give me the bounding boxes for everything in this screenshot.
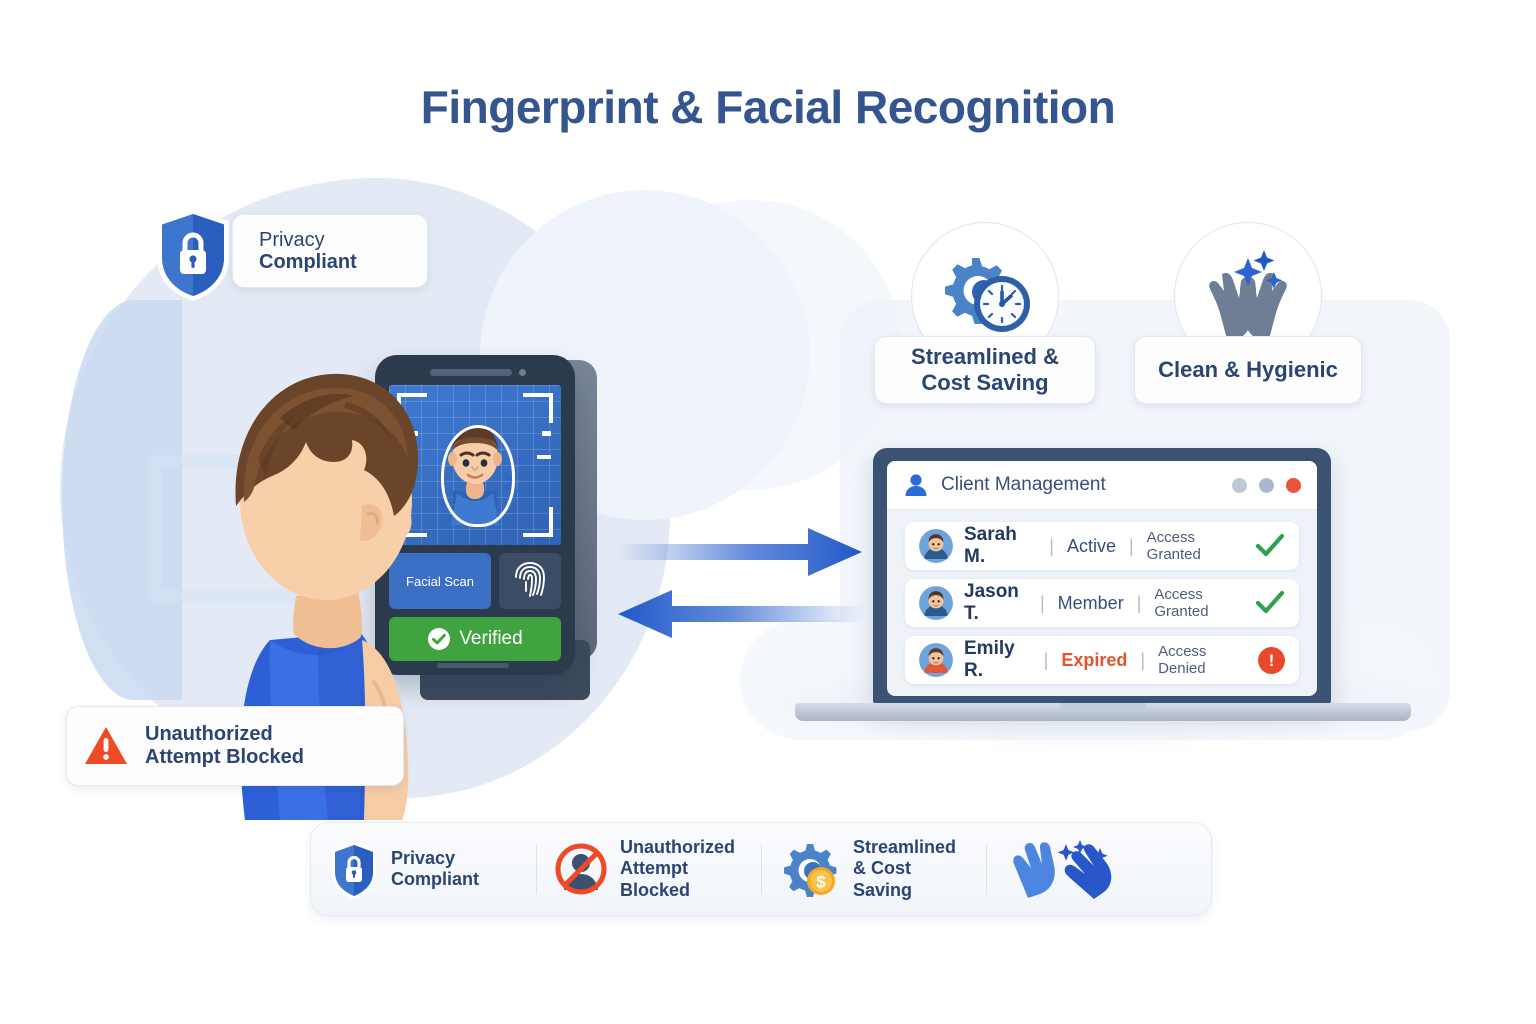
legend-unauth-line1: Unauthorized bbox=[620, 837, 735, 858]
avatar bbox=[919, 586, 953, 620]
row-separator-2: | bbox=[1137, 593, 1142, 614]
laptop-screen: Client Management bbox=[887, 461, 1317, 696]
client-management-window-header: Client Management bbox=[887, 461, 1317, 510]
feature-label-hygienic: Clean & Hygienic bbox=[1134, 336, 1362, 404]
user-icon bbox=[903, 472, 929, 498]
table-row[interactable]: Jason T. | Member | Access Granted bbox=[905, 579, 1299, 627]
shield-lock-icon bbox=[152, 206, 234, 302]
window-dot-close[interactable] bbox=[1286, 478, 1301, 493]
arrow-right-icon bbox=[616, 528, 862, 576]
legend-unauth-line3: Blocked bbox=[620, 880, 735, 901]
warning-triangle-icon bbox=[84, 725, 128, 767]
hands-sparkle-icon bbox=[1192, 248, 1304, 344]
gear-clock-icon bbox=[932, 248, 1038, 344]
legend-item-hygienic bbox=[986, 838, 1211, 900]
legend-bar: Privacy Compliant Unauthorized Attempt B… bbox=[310, 822, 1212, 916]
client-name: Sarah M. bbox=[964, 524, 1036, 568]
client-access: Access Granted bbox=[1147, 529, 1244, 563]
row-separator-2: | bbox=[1129, 536, 1134, 557]
window-controls[interactable] bbox=[1232, 478, 1301, 493]
client-list: Sarah M. | Active | Access Granted bbox=[887, 510, 1317, 696]
legend-item-unauthorized: Unauthorized Attempt Blocked bbox=[536, 838, 761, 900]
window-title: Client Management bbox=[941, 474, 1220, 496]
client-status: Member bbox=[1058, 593, 1124, 614]
no-person-icon bbox=[554, 842, 608, 896]
privacy-badge-line1: Privacy bbox=[259, 229, 357, 251]
row-separator-1: | bbox=[1044, 650, 1049, 671]
legend-item-streamlined: $ Streamlined & Cost Saving bbox=[761, 838, 986, 900]
window-dot-maximize[interactable] bbox=[1259, 478, 1274, 493]
unauth-badge-line2: Attempt Blocked bbox=[145, 746, 304, 769]
row-separator-2: | bbox=[1140, 650, 1145, 671]
feature-hygienic-line1: Clean & Hygienic bbox=[1158, 357, 1338, 383]
privacy-badge-line2: Compliant bbox=[259, 251, 357, 273]
scan-corner-top-right bbox=[523, 393, 553, 423]
gear-dollar-icon: $ bbox=[779, 840, 841, 898]
fingerprint-icon bbox=[513, 561, 547, 601]
row-result bbox=[1255, 590, 1285, 616]
window-dot-minimize[interactable] bbox=[1232, 478, 1247, 493]
client-status: Expired bbox=[1061, 650, 1127, 671]
table-row[interactable]: Sarah M. | Active | Access Granted bbox=[905, 522, 1299, 570]
page-title: Fingerprint & Facial Recognition bbox=[0, 80, 1536, 134]
legend-privacy-line1: Privacy bbox=[391, 848, 479, 869]
laptop-base bbox=[795, 703, 1411, 721]
client-name: Jason T. bbox=[964, 581, 1027, 625]
laptop-device: Client Management bbox=[873, 448, 1331, 706]
unauth-badge-line1: Unauthorized bbox=[145, 723, 304, 746]
legend-item-privacy: Privacy Compliant bbox=[311, 838, 536, 900]
row-result: ! bbox=[1258, 647, 1285, 674]
exchange-arrows bbox=[610, 520, 870, 660]
row-separator-1: | bbox=[1049, 536, 1054, 557]
check-icon bbox=[1255, 533, 1285, 559]
legend-streamlined-line2: & Cost Saving bbox=[853, 858, 968, 900]
client-access: Access Granted bbox=[1154, 586, 1244, 620]
feature-streamlined-line1: Streamlined & bbox=[911, 344, 1059, 370]
hands-sparkle-icon bbox=[1004, 838, 1112, 900]
alert-icon: ! bbox=[1258, 647, 1285, 674]
row-separator-1: | bbox=[1040, 593, 1045, 614]
avatar bbox=[919, 529, 953, 563]
feature-streamlined-line2: Cost Saving bbox=[911, 370, 1059, 396]
check-icon bbox=[1255, 590, 1285, 616]
scan-corner-bottom-right bbox=[523, 507, 553, 537]
legend-unauth-line2: Attempt bbox=[620, 858, 735, 879]
svg-text:$: $ bbox=[816, 873, 826, 892]
table-row[interactable]: Emily R. | Expired | Access Denied ! bbox=[905, 636, 1299, 684]
infographic-canvas: Fingerprint & Facial Recognition bbox=[0, 0, 1536, 1024]
legend-streamlined-line1: Streamlined bbox=[853, 837, 968, 858]
privacy-compliant-badge: Privacy Compliant bbox=[232, 214, 428, 288]
client-access: Access Denied bbox=[1158, 643, 1247, 677]
shield-lock-icon bbox=[329, 840, 379, 898]
scan-tick-right-2 bbox=[537, 455, 551, 459]
client-name: Emily R. bbox=[964, 638, 1031, 682]
legend-privacy-line2: Compliant bbox=[391, 869, 479, 890]
arrow-left-icon bbox=[618, 590, 864, 638]
row-result bbox=[1255, 533, 1285, 559]
legend-streamlined-text: Streamlined & Cost Saving bbox=[853, 837, 968, 901]
fingerprint-button[interactable] bbox=[499, 553, 561, 609]
legend-privacy-text: Privacy Compliant bbox=[391, 848, 479, 890]
scan-tick-right-1 bbox=[542, 431, 551, 436]
legend-unauthorized-text: Unauthorized Attempt Blocked bbox=[620, 837, 735, 901]
client-status: Active bbox=[1067, 536, 1116, 557]
avatar bbox=[919, 643, 953, 677]
feature-label-streamlined: Streamlined & Cost Saving bbox=[874, 336, 1096, 404]
